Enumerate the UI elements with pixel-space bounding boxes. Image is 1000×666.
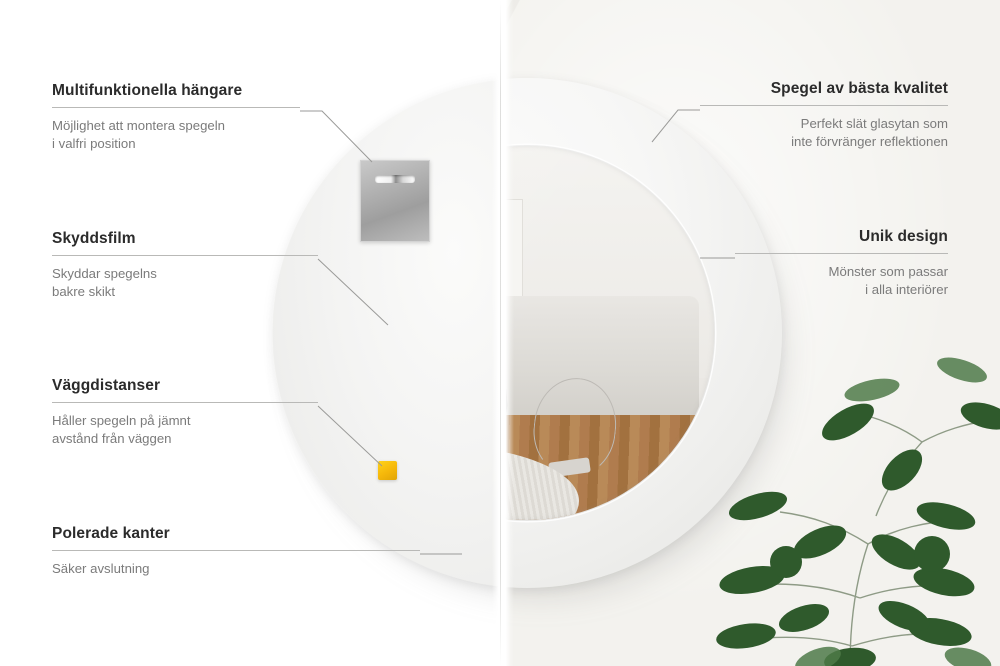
callout-unique-design: Unik design Mönster som passar i alla in… bbox=[735, 228, 948, 298]
leaf-branch-group bbox=[715, 352, 1000, 666]
callout-title: Multifunktionella hängare bbox=[52, 82, 300, 100]
hanger-bracket-plate bbox=[360, 160, 430, 242]
callout-rule bbox=[735, 253, 948, 254]
callout-description: Möjlighet att montera spegeln i valfri p… bbox=[52, 117, 300, 152]
panel-seam bbox=[492, 0, 514, 666]
callout-description: Mönster som passar i alla interiörer bbox=[735, 263, 948, 298]
callout-protective-film: Skyddsfilm Skyddar spegelns bakre skikt bbox=[52, 230, 318, 300]
callout-description: Perfekt slät glasytan som inte förvränge… bbox=[700, 115, 948, 150]
callout-description: Säker avslutning bbox=[52, 560, 420, 578]
callout-rule bbox=[52, 402, 318, 403]
keyhole-slot-icon bbox=[375, 175, 415, 183]
callout-rule bbox=[52, 550, 420, 551]
callout-best-quality: Spegel av bästa kvalitet Perfekt slät gl… bbox=[700, 80, 948, 150]
callout-title: Skyddsfilm bbox=[52, 230, 318, 248]
callout-hangers: Multifunktionella hängare Möjlighet att … bbox=[52, 82, 300, 152]
mirror-back-white-cover bbox=[272, 78, 500, 588]
infographic-stage: Multifunktionella hängare Möjlighet att … bbox=[0, 0, 1000, 666]
callout-rule bbox=[52, 255, 318, 256]
callout-title: Spegel av bästa kvalitet bbox=[700, 80, 948, 98]
callout-description: Håller spegeln på jämnt avstånd från väg… bbox=[52, 412, 318, 447]
callout-description: Skyddar spegelns bakre skikt bbox=[52, 265, 318, 300]
yellow-wall-spacer bbox=[378, 461, 397, 480]
callout-title: Väggdistanser bbox=[52, 377, 318, 395]
callout-wall-spacers: Väggdistanser Håller spegeln på jämnt av… bbox=[52, 377, 318, 447]
callout-title: Unik design bbox=[735, 228, 948, 246]
callout-polished-edges: Polerade kanter Säker avslutning bbox=[52, 525, 420, 578]
callout-title: Polerade kanter bbox=[52, 525, 420, 543]
callout-rule bbox=[700, 105, 948, 106]
callout-rule bbox=[52, 107, 300, 108]
foliage-decoration bbox=[700, 330, 1000, 666]
panel-seam-line bbox=[500, 0, 501, 666]
